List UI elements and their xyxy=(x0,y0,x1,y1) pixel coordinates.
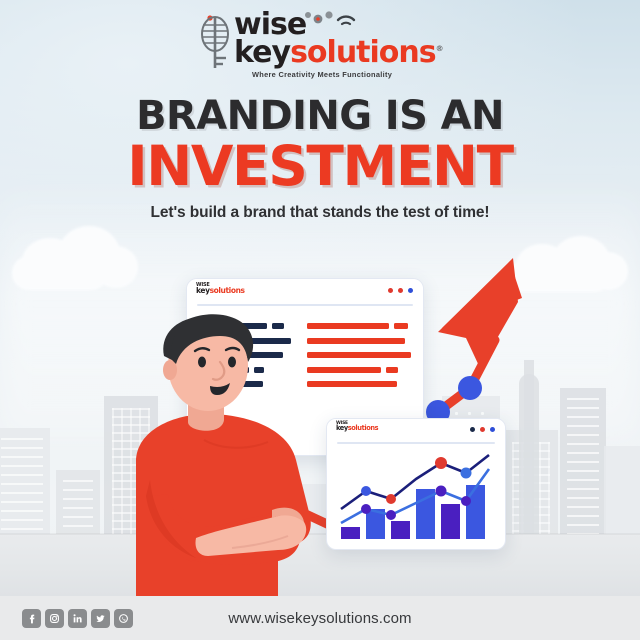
key-icon xyxy=(196,12,236,70)
browser-divider xyxy=(197,304,413,306)
poster: WISE keysolutions WISE keysolut xyxy=(0,0,640,640)
logo-tagline: Where Creativity Meets Functionality xyxy=(252,70,452,79)
headline-block: BRANDING IS AN INVESTMENT Let's build a … xyxy=(0,96,640,222)
logo-line-2: keysolutions® xyxy=(234,38,452,68)
browser-dots xyxy=(388,288,413,293)
brand-logo[interactable]: wise keysolutions® Where Creativity Meet… xyxy=(0,8,640,80)
website-url[interactable]: www.wisekeysolutions.com xyxy=(0,610,640,627)
footer-bar: www.wisekeysolutions.com xyxy=(0,596,640,640)
headline-line-2: INVESTMENT xyxy=(0,138,640,194)
window-logo: WISE keysolutions xyxy=(196,283,254,302)
brand-wordmark: wise keysolutions® Where Creativity Meet… xyxy=(234,10,452,79)
cloud-left xyxy=(8,222,148,294)
headline-subtitle: Let's build a brand that stands the test… xyxy=(0,204,640,222)
headline-line-1: BRANDING IS AN xyxy=(0,96,640,136)
browser-dots-2 xyxy=(470,427,495,432)
person-illustration xyxy=(96,310,366,602)
